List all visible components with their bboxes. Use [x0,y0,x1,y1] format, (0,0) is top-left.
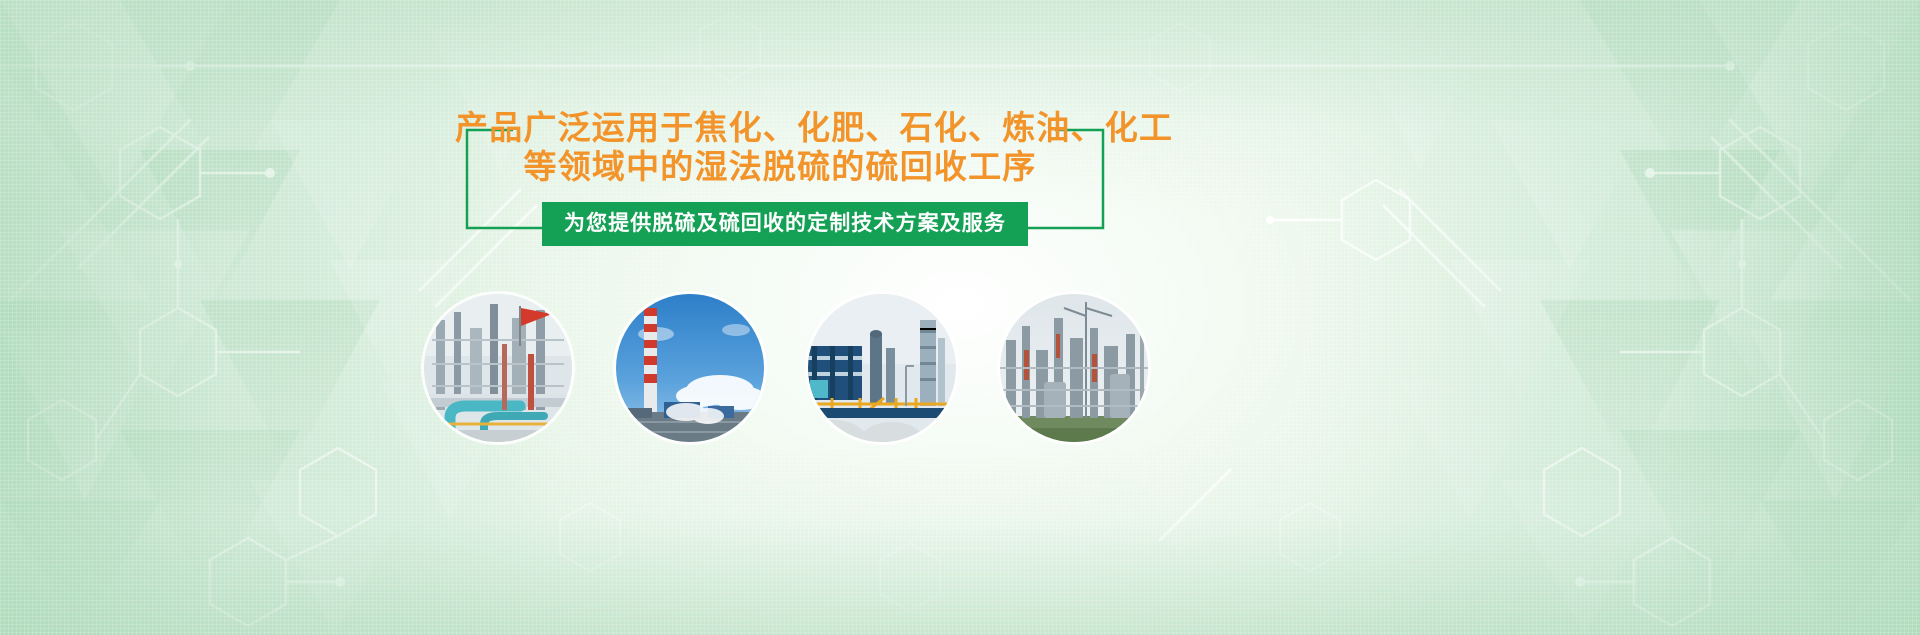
photo-desulfurization-piping[interactable] [424,294,572,442]
headline-block: 产品广泛运用于焦化、化肥、石化、炼油、化工 等领域中的湿法脱硫的硫回收工序 为您… [455,108,1105,246]
headline-line-1: 产品广泛运用于焦化、化肥、石化、炼油、化工 [455,108,1105,147]
headline-text: 产品广泛运用于焦化、化肥、石化、炼油、化工 等领域中的湿法脱硫的硫回收工序 [455,108,1105,186]
photo-power-plant-stack[interactable] [616,294,764,442]
headline-line-2: 等领域中的湿法脱硫的硫回收工序 [455,147,1105,186]
photo-row [424,294,1152,442]
promo-banner: 产品广泛运用于焦化、化肥、石化、炼油、化工 等领域中的湿法脱硫的硫回收工序 为您… [0,0,1920,635]
photo-refinery-towers[interactable] [1000,294,1148,442]
subtitle-bar: 为您提供脱硫及硫回收的定制技术方案及服务 [542,202,1028,246]
photo-refinery-platform[interactable] [808,294,956,442]
